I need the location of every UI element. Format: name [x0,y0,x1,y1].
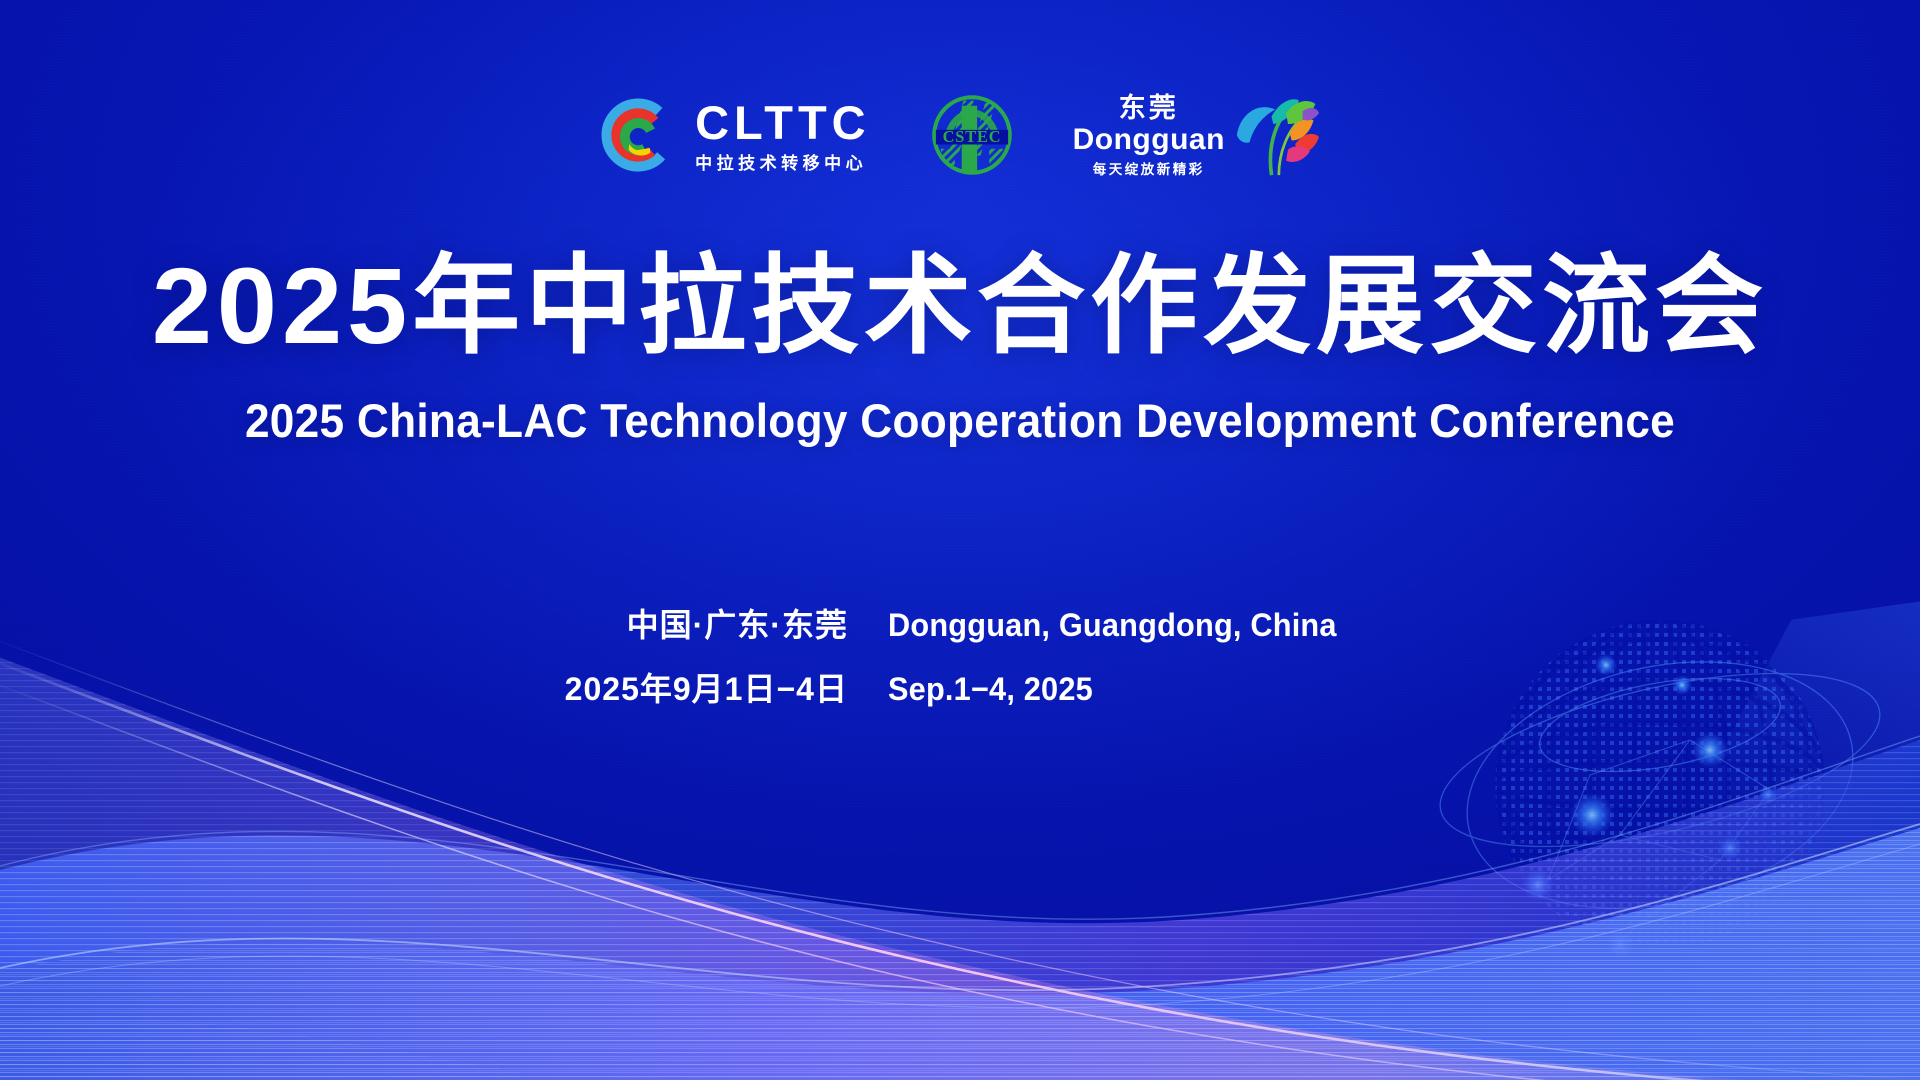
location-english: Dongguan, Guangdong, China [888,607,1337,644]
sponsor-logo-row: CLTTC 中拉技术转移中心 [0,92,1920,178]
clttc-logo: CLTTC 中拉技术转移中心 [597,94,871,176]
conference-title-chinese: 2025年中拉技术合作发展交流会 [0,246,1920,367]
clttc-wordmark: CLTTC [695,99,871,146]
svg-text:CSTEC: CSTEC [942,127,1001,146]
headline-block: 2025年中拉技术合作发展交流会 2025 China-LAC Technolo… [0,246,1920,449]
dongguan-slogan: 每天绽放新精彩 [1093,163,1205,177]
event-info-block: 中国·广东·东莞 Dongguan, Guangdong, China 2025… [0,600,1920,710]
dongguan-english-name: Dongguan [1073,124,1225,156]
dongguan-city-logo: 东莞 Dongguan 每天绽放新精彩 [1073,93,1323,177]
conference-banner: CLTTC 中拉技术转移中心 [0,0,1920,1080]
cstec-emblem-icon: CSTEC [929,92,1015,178]
date-chinese: 2025年9月1日−4日 [565,664,848,710]
conference-title-english: 2025 China-LAC Technology Cooperation De… [58,393,1863,449]
dongguan-flower-icon [1231,93,1323,177]
location-chinese: 中国·广东·东莞 [565,600,848,646]
cstec-logo: CSTEC [929,92,1015,178]
dongguan-chinese-name: 东莞 [1119,94,1179,122]
clttc-chinese-name: 中拉技术转移中心 [695,155,871,172]
clttc-c-mark-icon [597,94,679,176]
date-english: Sep.1−4, 2025 [888,671,1337,708]
